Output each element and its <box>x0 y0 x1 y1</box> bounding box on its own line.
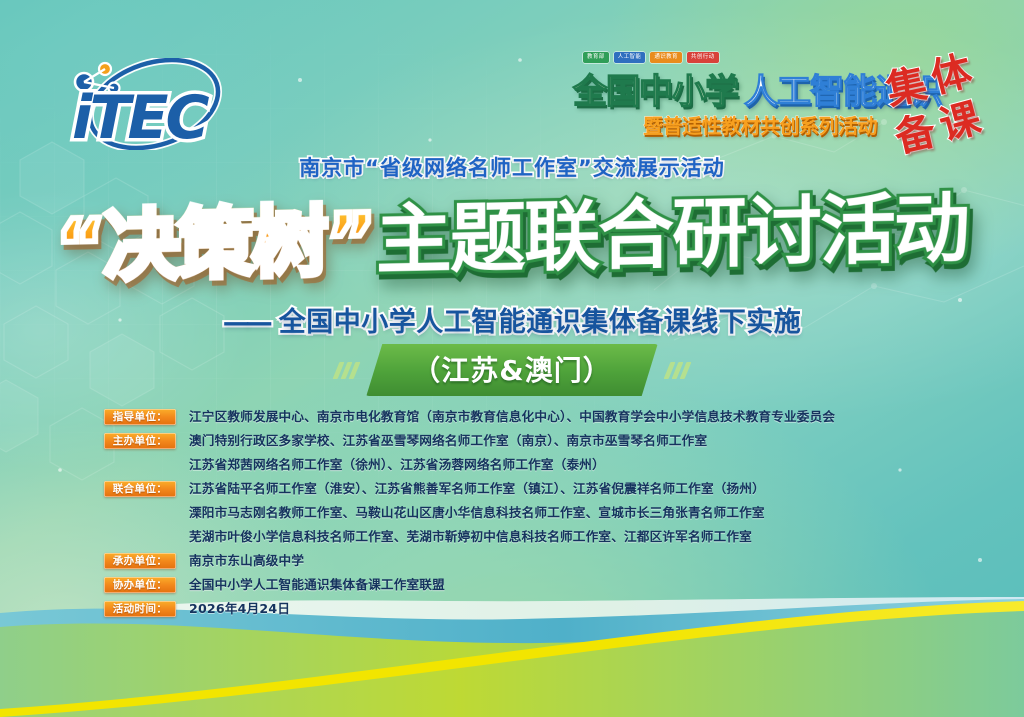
event-poster: iTEC 教育部 人工智能 通识教育 共创行动 全国中小学 人工智能通识 暨普适… <box>0 0 1024 717</box>
credit-label: 指导单位： <box>113 412 168 423</box>
credit-label: 活动时间： <box>113 604 168 615</box>
credit-row: 活动时间： 2026年4月24日 <box>104 598 944 620</box>
program-title-part-a: 全国中小学 <box>573 64 738 113</box>
jititibeike-seal: 集 体 备 课 <box>880 41 1001 167</box>
credit-row-continued: 溧阳市马志刚名教师工作室、马鞍山花山区唐小华信息科技名师工作室、宣城市长三角张青… <box>104 502 944 524</box>
strapline-dash: —— <box>223 307 269 338</box>
strapline: ——全国中小学人工智能通识集体备课线下实施 <box>0 300 1024 339</box>
ribbon-slash-right <box>658 362 697 379</box>
credits-block: 指导单位： 江宁区教师发展中心、南京市电化教育馆（南京市教育信息化中心）、中国教… <box>104 406 944 622</box>
headline-quoted-topic: “决策树” <box>56 202 378 285</box>
ribbon-slash-left <box>327 362 366 379</box>
mini-tag: 通识教育 <box>650 52 682 63</box>
credit-text: 江宁区教师发展中心、南京市电化教育馆（南京市教育信息化中心）、中国教育学会中小学… <box>189 406 835 428</box>
credit-text: 芜湖市叶俊小学信息科技名师工作室、芜湖市靳婷初中信息科技名师工作室、江都区许军名… <box>189 526 752 548</box>
credit-label: 主办单位： <box>113 436 168 447</box>
credit-text: 南京市东山高级中学 <box>189 550 304 572</box>
program-mini-tags: 教育部 人工智能 通识教育 共创行动 <box>583 52 719 63</box>
credit-row: 主办单位： 澳门特别行政区多家学校、江苏省巫雪琴网络名师工作室（南京）、南京市巫… <box>104 430 944 452</box>
credit-row: 协办单位： 全国中小学人工智能通识集体备课工作室联盟 <box>104 574 944 596</box>
credit-label: 承办单位： <box>113 556 168 567</box>
credit-row-continued: 江苏省郑茜网络名师工作室（徐州）、江苏省汤蓉网络名师工作室（泰州） <box>104 454 944 476</box>
credit-badge: 主办单位： <box>104 433 176 449</box>
region-ribbon-text: （江苏&澳门） <box>412 354 611 387</box>
ribbon-body: （江苏&澳门） <box>366 344 657 396</box>
credit-text: 江苏省陆平名师工作室（淮安）、江苏省熊善军名师工作室（镇江）、江苏省倪震祥名师工… <box>189 478 765 500</box>
program-lockup: 教育部 人工智能 通识教育 共创行动 全国中小学 人工智能通识 暨普适性教材共创… <box>565 52 985 162</box>
mini-tag: 共创行动 <box>687 52 719 63</box>
credit-badge: 指导单位： <box>104 409 176 425</box>
itec-logo: iTEC <box>58 58 248 150</box>
svg-text:iTEC: iTEC <box>72 83 209 150</box>
region-ribbon: （江苏&澳门） <box>0 344 1024 396</box>
credit-row: 联合单位： 江苏省陆平名师工作室（淮安）、江苏省熊善军名师工作室（镇江）、江苏省… <box>104 478 944 500</box>
credit-text: 溧阳市马志刚名教师工作室、马鞍山花山区唐小华信息科技名师工作室、宣城市长三角张青… <box>189 502 765 524</box>
credit-badge: 协办单位： <box>104 577 176 593</box>
main-headline: “决策树” 主题联合研讨活动 <box>0 174 1024 300</box>
event-date-text: 2026年4月24日 <box>189 598 290 620</box>
credit-text: 江苏省郑茜网络名师工作室（徐州）、江苏省汤蓉网络名师工作室（泰州） <box>189 454 605 476</box>
mini-tag: 人工智能 <box>614 52 646 63</box>
strapline-text: 全国中小学人工智能通识集体备课线下实施 <box>279 307 802 338</box>
credit-badge: 活动时间： <box>104 601 176 617</box>
credit-text: 澳门特别行政区多家学校、江苏省巫雪琴网络名师工作室（南京）、南京市巫雪琴名师工作… <box>189 430 707 452</box>
program-subtitle: 暨普适性教材共创系列活动 <box>643 110 877 139</box>
credit-row: 承办单位： 南京市东山高级中学 <box>104 550 944 572</box>
credit-label: 联合单位： <box>113 484 168 495</box>
credit-row-continued: 芜湖市叶俊小学信息科技名师工作室、芜湖市靳婷初中信息科技名师工作室、江都区许军名… <box>104 526 944 548</box>
seal-char: 课 <box>932 85 986 151</box>
credit-badge: 联合单位： <box>104 481 176 497</box>
credit-text: 全国中小学人工智能通识集体备课工作室联盟 <box>189 574 445 596</box>
credit-label: 协办单位： <box>113 580 168 591</box>
headline-main-text: 主题联合研讨活动 <box>376 190 968 278</box>
credit-badge: 承办单位： <box>104 553 176 569</box>
credit-row: 指导单位： 江宁区教师发展中心、南京市电化教育馆（南京市教育信息化中心）、中国教… <box>104 406 944 428</box>
mini-tag: 教育部 <box>583 52 609 63</box>
